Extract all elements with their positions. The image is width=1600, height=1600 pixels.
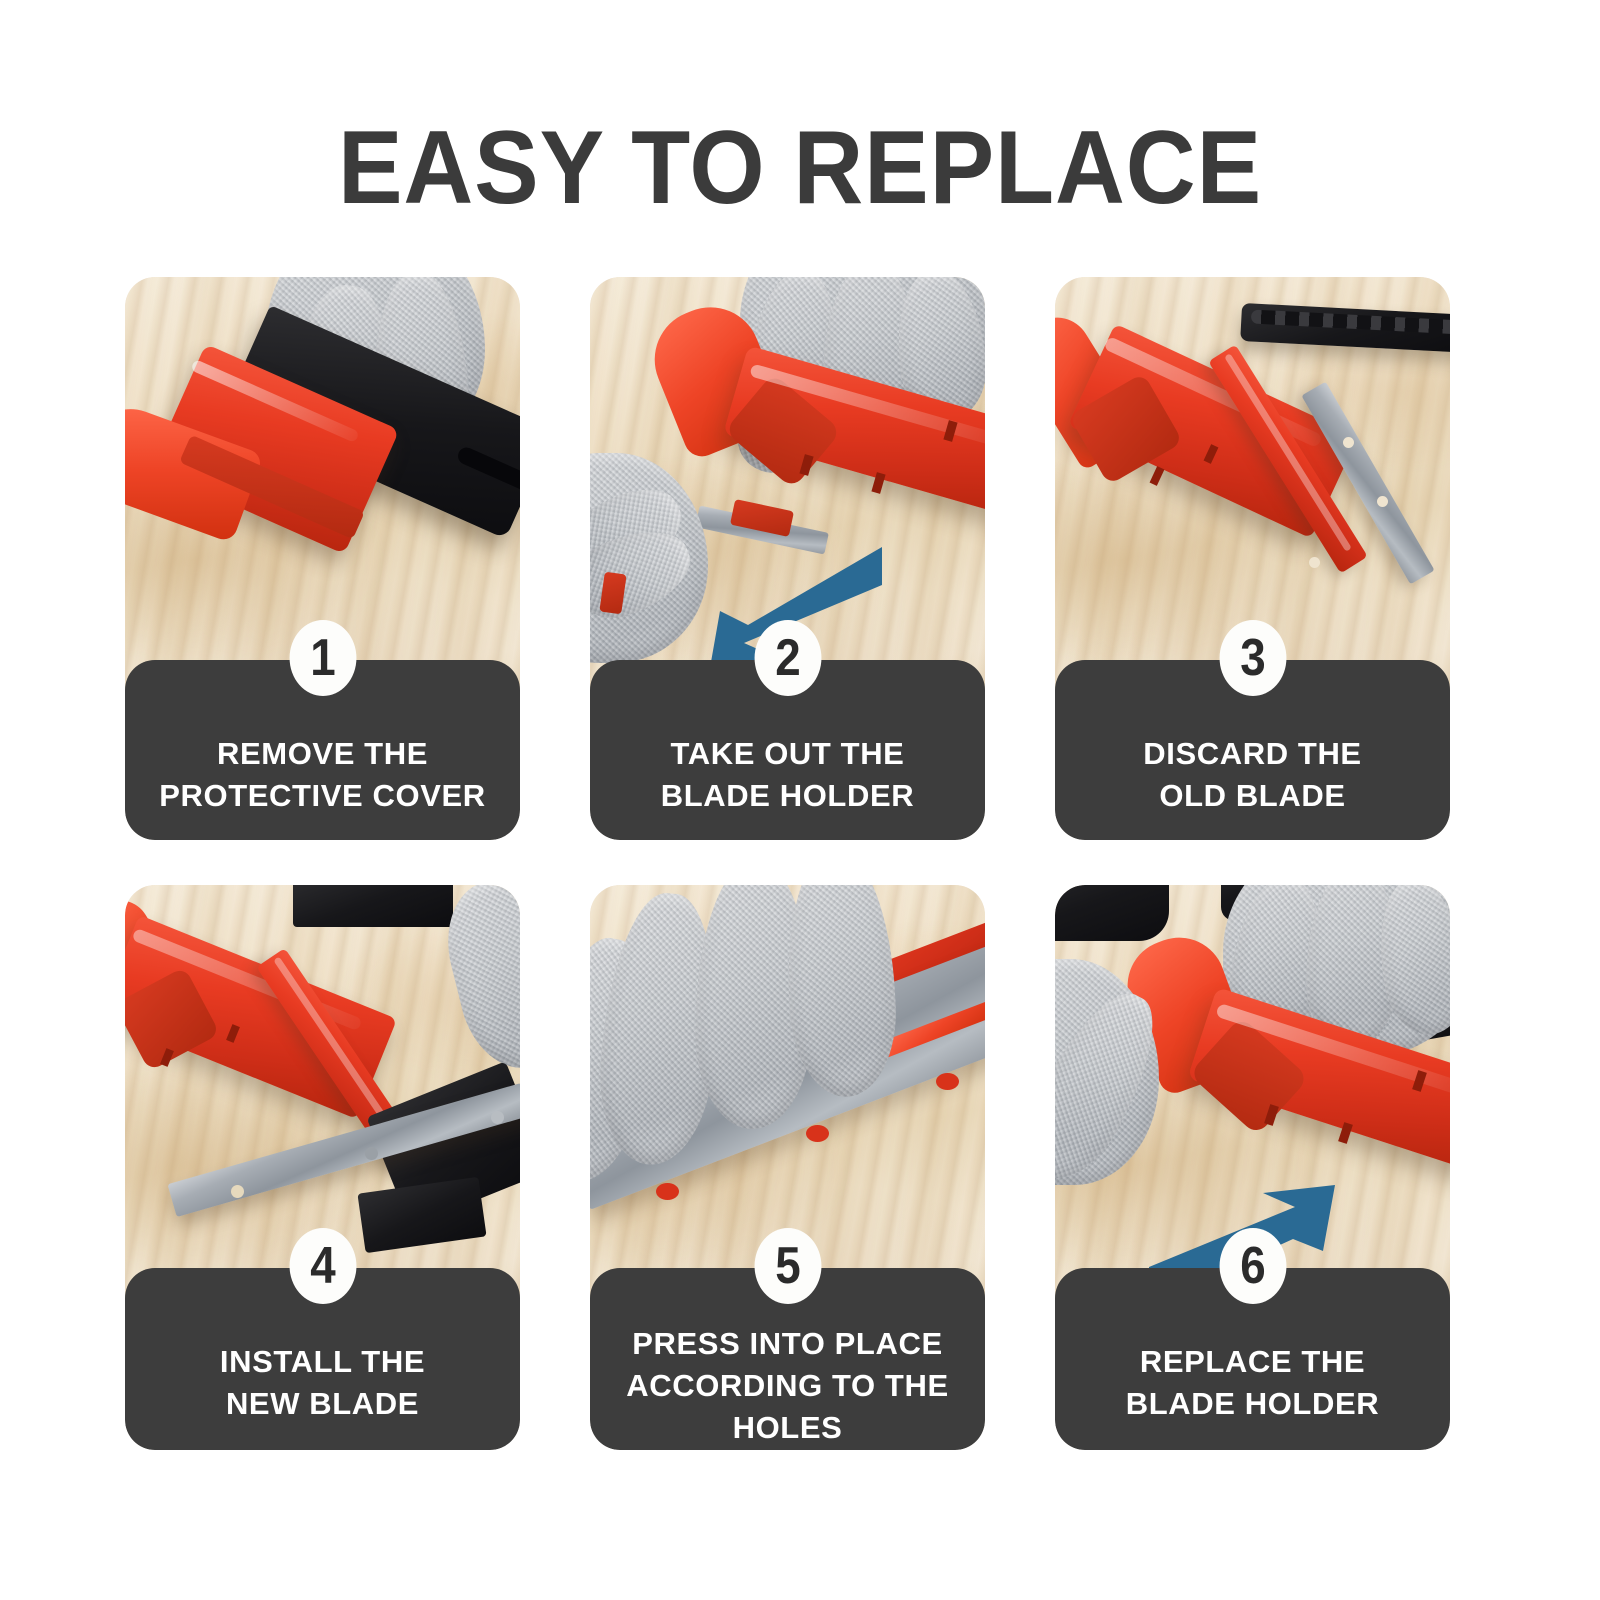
- caption-line: PROTECTIVE COVER: [141, 775, 504, 817]
- infographic-page: EASY TO REPLACE 1 REMO: [0, 0, 1600, 1600]
- step-card-6: 6 REPLACE THE BLADE HOLDER: [1055, 885, 1450, 1450]
- blade-hole: [1343, 437, 1354, 448]
- caption-line: ACCORDING TO THE: [606, 1365, 969, 1407]
- caption-line: PRESS INTO PLACE: [606, 1323, 969, 1365]
- caption-line: TAKE OUT THE: [606, 733, 969, 775]
- step-number-badge-2: 2: [754, 620, 821, 696]
- step-caption-text-1: REMOVE THE PROTECTIVE COVER: [141, 733, 504, 817]
- step-number-badge-5: 5: [754, 1228, 821, 1304]
- step-card-2: 2 TAKE OUT THE BLADE HOLDER: [590, 277, 985, 840]
- blade-hole: [365, 1147, 378, 1160]
- step-number-badge-4: 4: [289, 1228, 356, 1304]
- blade-hole: [231, 1185, 244, 1198]
- blade-hole-pin: [806, 1125, 829, 1142]
- caption-line: REMOVE THE: [141, 733, 504, 775]
- blade-hole-pin: [656, 1183, 679, 1200]
- caption-line: BLADE HOLDER: [606, 775, 969, 817]
- background-dark-object: [1055, 885, 1169, 941]
- step-number-badge-6: 6: [1219, 1228, 1286, 1304]
- page-title: EASY TO REPLACE: [56, 112, 1544, 224]
- caption-line: OLD BLADE: [1071, 775, 1434, 817]
- blade-hole: [1309, 557, 1320, 568]
- steps-grid: 1 REMOVE THE PROTECTIVE COVER: [125, 277, 1475, 1477]
- caption-line: REPLACE THE: [1071, 1341, 1434, 1383]
- black-blade-packaging: [293, 885, 453, 927]
- caption-line: BLADE HOLDER: [1071, 1383, 1434, 1425]
- step-card-1: 1 REMOVE THE PROTECTIVE COVER: [125, 277, 520, 840]
- step-number-badge-3: 3: [1219, 620, 1286, 696]
- blade-hole: [491, 1111, 504, 1124]
- step-card-4: 4 INSTALL THE NEW BLADE: [125, 885, 520, 1450]
- step-caption-text-5: PRESS INTO PLACE ACCORDING TO THE HOLES: [606, 1323, 969, 1449]
- caption-line: NEW BLADE: [141, 1383, 504, 1425]
- step-caption-text-6: REPLACE THE BLADE HOLDER: [1071, 1341, 1434, 1425]
- step-caption-text-3: DISCARD THE OLD BLADE: [1071, 733, 1434, 817]
- step-number-badge-1: 1: [289, 620, 356, 696]
- caption-line: DISCARD THE: [1071, 733, 1434, 775]
- caption-line: INSTALL THE: [141, 1341, 504, 1383]
- step-card-3: 3 DISCARD THE OLD BLADE: [1055, 277, 1450, 840]
- step-card-5: 5 PRESS INTO PLACE ACCORDING TO THE HOLE…: [590, 885, 985, 1450]
- caption-line: HOLES: [606, 1407, 969, 1449]
- step-caption-text-2: TAKE OUT THE BLADE HOLDER: [606, 733, 969, 817]
- blade-hole: [1377, 496, 1388, 507]
- step-caption-text-4: INSTALL THE NEW BLADE: [141, 1341, 504, 1425]
- blade-hole-pin: [936, 1073, 959, 1090]
